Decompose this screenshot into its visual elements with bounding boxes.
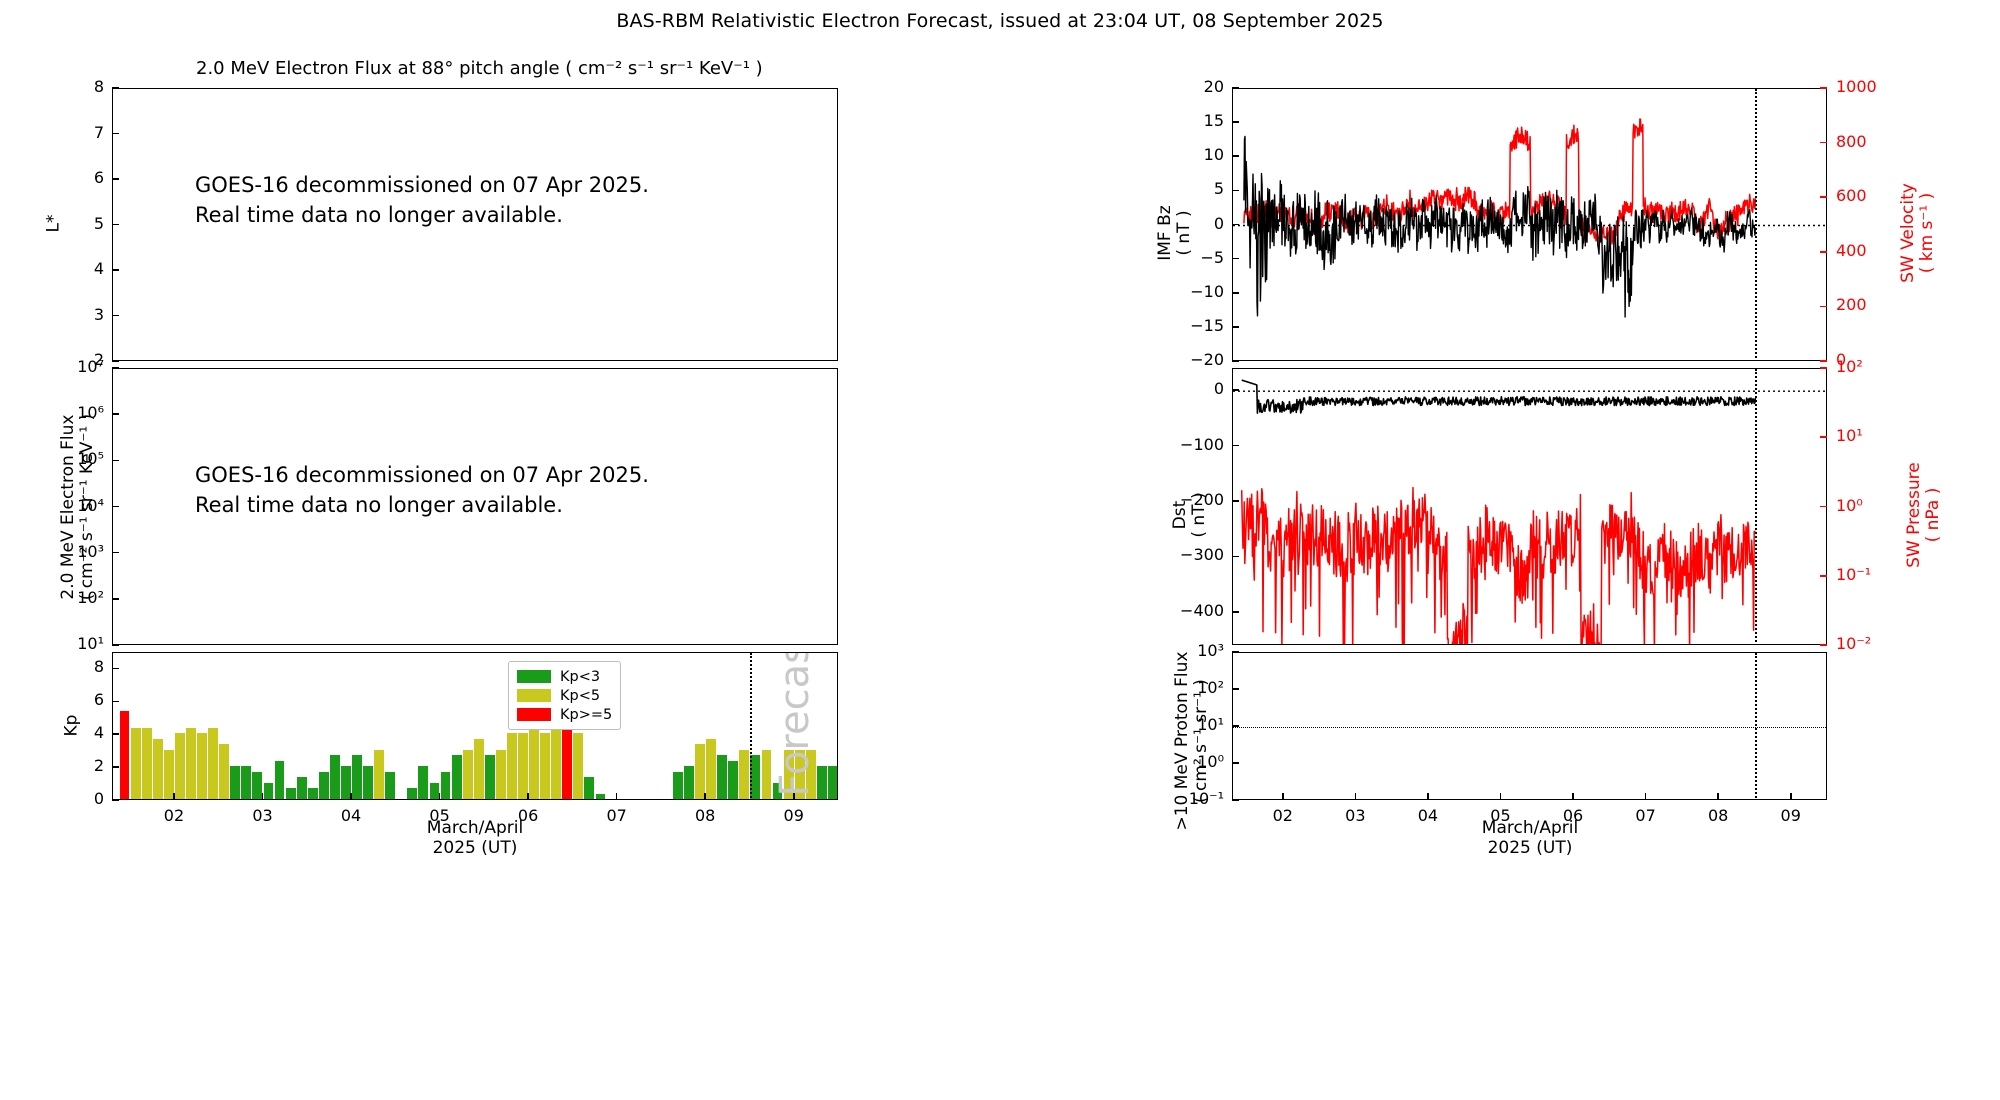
eflux-tick-4: 10³ <box>34 542 104 561</box>
proton-xtick-3: 05 <box>1470 806 1530 825</box>
kp-tick-1: 6 <box>34 690 104 709</box>
proton-tick-0: 10³ <box>1154 641 1224 660</box>
swv-tick-right-0: 1000 <box>1836 77 1877 96</box>
swp-tickmark-right-3 <box>1820 575 1827 577</box>
kp-legend-swatch-1 <box>517 689 551 702</box>
lstar-tick-1: 7 <box>34 123 104 142</box>
kp-bar <box>385 772 395 799</box>
kp-bar <box>828 766 838 799</box>
kp-bar <box>352 755 362 799</box>
kp-bar <box>573 733 583 799</box>
proton-tick-2: 10¹ <box>1154 715 1224 734</box>
kp-bar <box>584 777 594 799</box>
dst-tickmark-1 <box>1232 445 1239 447</box>
kp-bar <box>474 739 484 799</box>
bz-tick-7: −15 <box>1154 316 1224 335</box>
kp-bar <box>330 755 340 799</box>
bz-tickmark-8 <box>1232 360 1239 362</box>
kp-xlabel: March/April 2025 (UT) <box>355 818 595 859</box>
eflux-tick-6: 10¹ <box>34 634 104 653</box>
kp-legend: Kp<3Kp<5Kp>=5 <box>508 661 621 730</box>
dst-tickmark-3 <box>1232 556 1239 558</box>
kp-bar <box>485 755 495 799</box>
swv-tick-right-2: 600 <box>1836 186 1867 205</box>
dst-tick-3: −300 <box>1134 545 1224 564</box>
lstar-panel: GOES-16 decommissioned on 07 Apr 2025. R… <box>112 88 838 361</box>
kp-bar <box>264 783 274 799</box>
sw-pressure-ylabel: SW Pressure ( nPa ) <box>1905 415 1943 615</box>
imf-bz-plot <box>1233 89 1827 361</box>
kp-xtick-7: 09 <box>764 806 824 825</box>
eflux-tick-0: 10⁷ <box>34 357 104 376</box>
kp-bar <box>507 733 517 799</box>
eflux-tickmark-4 <box>112 552 119 554</box>
kp-bar <box>452 755 462 799</box>
lstar-tick-4: 4 <box>34 259 104 278</box>
bz-tick-5: −5 <box>1154 248 1224 267</box>
bz-tickmark-5 <box>1232 258 1239 260</box>
lstar-tickmark-0 <box>112 87 119 89</box>
kp-bar <box>186 728 196 799</box>
proton-tick-4: 10⁻¹ <box>1154 789 1224 808</box>
proton-flux-ylabel: >10 MeV Proton Flux ( cm² s⁻¹ sr⁻¹ ) <box>1173 581 1211 901</box>
kp-tick-3: 2 <box>34 756 104 775</box>
kp-bar <box>728 761 738 799</box>
proton-xtickmark-0 <box>1282 793 1284 800</box>
lstar-tick-3: 5 <box>34 214 104 233</box>
bz-tick-6: −10 <box>1154 282 1224 301</box>
kp-bar <box>684 766 694 799</box>
lstar-tickmark-4 <box>112 269 119 271</box>
kp-bar <box>717 755 727 799</box>
proton-xtickmark-3 <box>1500 793 1502 800</box>
kp-bar <box>551 728 561 799</box>
lstar-tickmark-6 <box>112 360 119 362</box>
swp-tickmark-right-1 <box>1820 436 1827 438</box>
forecast-figure: BAS-RBM Relativistic Electron Forecast, … <box>0 0 2000 1100</box>
kp-tickmark-0 <box>112 668 119 670</box>
electron-flux-panel: GOES-16 decommissioned on 07 Apr 2025. R… <box>112 368 838 645</box>
kp-bar <box>142 728 152 799</box>
kp-bar <box>164 750 174 799</box>
proton-tickmark-0 <box>1232 651 1239 653</box>
proton-xtick-0: 02 <box>1253 806 1313 825</box>
proton-xtick-2: 04 <box>1398 806 1458 825</box>
eflux-tickmark-6 <box>112 644 119 646</box>
kp-bar <box>762 750 772 799</box>
kp-bar <box>407 788 417 799</box>
bz-tick-1: 15 <box>1154 111 1224 130</box>
kp-bar <box>518 733 528 799</box>
proton-xtick-4: 06 <box>1543 806 1603 825</box>
dst-tick-0: 0 <box>1134 379 1224 398</box>
bz-tickmark-2 <box>1232 155 1239 157</box>
proton-xtick-6: 08 <box>1688 806 1748 825</box>
bz-tick-3: 5 <box>1154 179 1224 198</box>
lstar-message: GOES-16 decommissioned on 07 Apr 2025. R… <box>195 171 649 231</box>
lstar-tickmark-1 <box>112 133 119 135</box>
kp-legend-swatch-0 <box>517 670 551 683</box>
electron-flux-message: GOES-16 decommissioned on 07 Apr 2025. R… <box>195 461 649 521</box>
swv-tickmark-right-1 <box>1820 142 1827 144</box>
kp-xtickmark-6 <box>704 793 706 800</box>
proton-xtick-1: 03 <box>1325 806 1385 825</box>
eflux-tick-3: 10⁴ <box>34 496 104 515</box>
eflux-tick-5: 10² <box>34 588 104 607</box>
proton-xtick-7: 09 <box>1761 806 1821 825</box>
kp-xtickmark-3 <box>439 793 441 800</box>
eflux-tickmark-1 <box>112 413 119 415</box>
swp-tick-right-2: 10⁰ <box>1836 496 1863 515</box>
kp-xtick-0: 02 <box>144 806 204 825</box>
swp-tick-right-3: 10⁻¹ <box>1836 565 1871 584</box>
kp-bar <box>496 750 506 799</box>
swp-tick-right-0: 10² <box>1836 357 1863 376</box>
dst-tick-4: −400 <box>1134 601 1224 620</box>
dst-forecast-divider <box>1755 369 1757 645</box>
kp-legend-label-1: Kp<5 <box>560 688 600 704</box>
kp-bar <box>308 788 318 799</box>
bz-tickmark-6 <box>1232 292 1239 294</box>
kp-bar <box>275 761 285 799</box>
kp-bar <box>131 728 141 799</box>
swp-tickmark-right-4 <box>1820 644 1827 646</box>
proton-tickmark-1 <box>1232 688 1239 690</box>
kp-bar <box>529 728 539 799</box>
kp-tick-2: 4 <box>34 723 104 742</box>
proton-forecast-divider <box>1755 653 1757 800</box>
kp-bar <box>673 772 683 799</box>
kp-bar <box>596 794 606 799</box>
swv-tickmark-right-4 <box>1820 306 1827 308</box>
swp-tickmark-right-0 <box>1820 367 1827 369</box>
kp-xtick-4: 06 <box>498 806 558 825</box>
kp-xtickmark-2 <box>350 793 352 800</box>
kp-bar <box>197 733 207 799</box>
proton-xtickmark-1 <box>1355 793 1357 800</box>
kp-xtickmark-7 <box>793 793 795 800</box>
kp-xtick-1: 03 <box>233 806 293 825</box>
kp-tick-0: 8 <box>34 657 104 676</box>
dst-tick-2: −200 <box>1134 490 1224 509</box>
proton-tick-1: 10² <box>1154 678 1224 697</box>
proton-xtickmark-2 <box>1427 793 1429 800</box>
swp-tick-right-4: 10⁻² <box>1836 634 1871 653</box>
proton-tickmark-4 <box>1232 799 1239 801</box>
kp-xtick-5: 07 <box>587 806 647 825</box>
kp-bar <box>463 750 473 799</box>
kp-bar <box>374 750 384 799</box>
bz-tick-8: −20 <box>1154 350 1224 369</box>
figure-title: BAS-RBM Relativistic Electron Forecast, … <box>0 10 2000 32</box>
swv-tickmark-right-3 <box>1820 251 1827 253</box>
kp-bar <box>208 728 218 799</box>
kp-legend-item-1: Kp<5 <box>517 686 612 705</box>
kp-bar <box>230 766 240 799</box>
dst-tick-1: −100 <box>1134 435 1224 454</box>
swv-tickmark-right-0 <box>1820 87 1827 89</box>
kp-legend-item-2: Kp>=5 <box>517 705 612 724</box>
kp-bar <box>418 766 428 799</box>
proton-xtick-5: 07 <box>1616 806 1676 825</box>
kp-tickmark-3 <box>112 766 119 768</box>
bz-tickmark-1 <box>1232 121 1239 123</box>
kp-xtick-2: 04 <box>321 806 381 825</box>
lstar-tickmark-3 <box>112 224 119 226</box>
lstar-tick-5: 3 <box>34 305 104 324</box>
eflux-tickmark-3 <box>112 506 119 508</box>
kp-xtickmark-5 <box>616 793 618 800</box>
lstar-panel-title: 2.0 MeV Electron Flux at 88° pitch angle… <box>196 58 763 79</box>
bz-tickmark-0 <box>1232 87 1239 89</box>
bz-tick-4: 0 <box>1154 214 1224 233</box>
kp-bar <box>219 744 229 799</box>
swv-tick-right-1: 800 <box>1836 132 1867 151</box>
kp-bar <box>695 744 705 799</box>
bz-tick-2: 10 <box>1154 145 1224 164</box>
dst-plot <box>1233 369 1827 645</box>
swp-tick-right-1: 10¹ <box>1836 426 1863 445</box>
proton-xtickmark-6 <box>1717 793 1719 800</box>
eflux-tickmark-5 <box>112 598 119 600</box>
eflux-tick-2: 10⁵ <box>34 449 104 468</box>
kp-bar <box>319 772 329 799</box>
forecast-watermark: Forecast <box>772 652 818 800</box>
lstar-tickmark-5 <box>112 315 119 317</box>
lstar-tick-0: 8 <box>34 77 104 96</box>
swv-tickmark-right-5 <box>1820 360 1827 362</box>
kp-bar <box>706 739 716 799</box>
kp-xtickmark-4 <box>527 793 529 800</box>
kp-bar <box>286 788 296 799</box>
kp-bar <box>153 739 163 799</box>
swv-tick-right-4: 200 <box>1836 295 1867 314</box>
kp-bar <box>739 750 749 799</box>
kp-bar <box>540 733 550 799</box>
lstar-tickmark-2 <box>112 178 119 180</box>
proton-xtickmark-7 <box>1790 793 1792 800</box>
kp-xtick-6: 08 <box>675 806 735 825</box>
proton-xtickmark-4 <box>1572 793 1574 800</box>
kp-legend-item-0: Kp<3 <box>517 667 612 686</box>
kp-tickmark-2 <box>112 733 119 735</box>
kp-bar-series <box>113 653 837 799</box>
kp-panel: Forecast Kp<3Kp<5Kp>=5 <box>112 652 838 800</box>
bz-tick-0: 20 <box>1154 77 1224 96</box>
proton-tick-3: 10⁰ <box>1154 752 1224 771</box>
kp-legend-label-2: Kp>=5 <box>560 707 612 723</box>
bz-tickmark-3 <box>1232 190 1239 192</box>
kp-bar <box>241 766 251 799</box>
proton-xtickmark-5 <box>1645 793 1647 800</box>
kp-tick-4: 0 <box>34 789 104 808</box>
kp-bar <box>297 777 307 799</box>
dst-tickmark-4 <box>1232 611 1239 613</box>
kp-bar <box>817 766 827 799</box>
dst-panel <box>1232 368 1827 645</box>
proton-tickmark-2 <box>1232 725 1239 727</box>
kp-legend-swatch-2 <box>517 708 551 721</box>
bz-forecast-divider <box>1755 89 1757 361</box>
swv-tickmark-right-2 <box>1820 196 1827 198</box>
lstar-tick-2: 6 <box>34 168 104 187</box>
kp-bar <box>441 772 451 799</box>
kp-forecast-divider <box>750 653 752 800</box>
swv-tick-right-3: 400 <box>1836 241 1867 260</box>
eflux-tick-1: 10⁶ <box>34 403 104 422</box>
kp-xtickmark-0 <box>173 793 175 800</box>
bz-tickmark-7 <box>1232 326 1239 328</box>
dst-tickmark-2 <box>1232 500 1239 502</box>
sw-velocity-ylabel: SW Velocity ( km s⁻¹ ) <box>1899 133 1937 333</box>
proton-threshold-line <box>1233 727 1827 728</box>
kp-tickmark-4 <box>112 799 119 801</box>
kp-bar <box>363 766 373 799</box>
kp-legend-label-0: Kp<3 <box>560 669 600 685</box>
swp-tickmark-right-2 <box>1820 506 1827 508</box>
proton-flux-panel <box>1232 652 1827 800</box>
dst-tickmark-0 <box>1232 389 1239 391</box>
kp-tickmark-1 <box>112 701 119 703</box>
kp-bar <box>120 711 130 799</box>
eflux-tickmark-0 <box>112 367 119 369</box>
proton-tickmark-3 <box>1232 762 1239 764</box>
kp-xtick-3: 05 <box>410 806 470 825</box>
imf-bz-panel <box>1232 88 1827 361</box>
eflux-tickmark-2 <box>112 460 119 462</box>
kp-xtickmark-1 <box>262 793 264 800</box>
bz-tickmark-4 <box>1232 224 1239 226</box>
kp-bar <box>175 733 185 799</box>
